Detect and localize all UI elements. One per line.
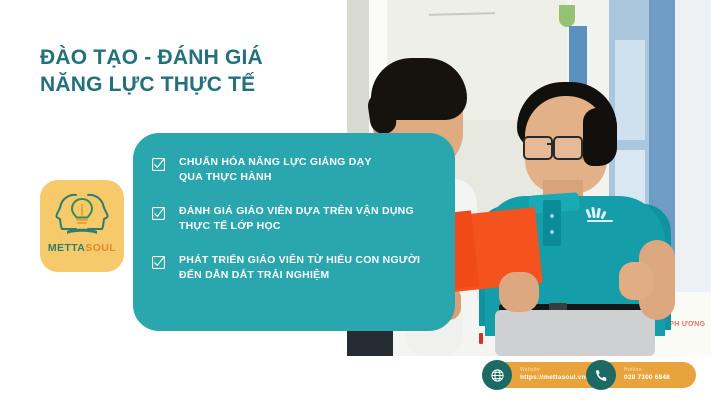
mettasoul-head-lightbulb-icon	[54, 190, 110, 240]
bullet-list: CHUẨN HÓA NĂNG LỰC GIẢNG DẠY QUA THỰC HÀ…	[151, 155, 445, 282]
website-badge-value: https://mettasoul.vn/	[520, 375, 588, 382]
website-badge-label: Website	[520, 368, 588, 373]
phone-icon	[586, 360, 616, 390]
bullet-card: CHUẨN HÓA NĂNG LỰC GIẢNG DẠY QUA THỰC HÀ…	[133, 133, 455, 331]
list-item: ĐÁNH GIÁ GIÁO VIÊN DỰA TRÊN VẬN DỤNG THỰ…	[151, 204, 445, 233]
list-item-label: PHÁT TRIỂN GIÁO VIÊN TỪ HIỂU CON NGƯỜI Đ…	[179, 253, 420, 282]
photo-person-right-placket	[543, 200, 561, 246]
photo-person-right-glasses-right	[553, 136, 583, 160]
brand-name-second: SOUL	[85, 242, 116, 254]
photo-person-right-hand-right	[619, 262, 653, 300]
list-item: CHUẨN HÓA NĂNG LỰC GIẢNG DẠY QUA THỰC HÀ…	[151, 155, 445, 184]
photo-person-right-hand-left	[499, 272, 539, 312]
globe-icon	[482, 360, 512, 390]
website-badge-text: Website https://mettasoul.vn/	[520, 368, 588, 382]
slide: ANH PH ƯƠNG	[0, 0, 711, 400]
photo-polo-button-2	[550, 230, 554, 234]
checkbox-checked-icon	[151, 255, 166, 270]
hotline-badge-value: 028 7300 6848	[624, 375, 670, 382]
photo-person-right-hair-back	[583, 108, 617, 166]
list-item-label: ĐÁNH GIÁ GIÁO VIÊN DỰA TRÊN VẬN DỤNG THỰ…	[179, 204, 414, 233]
photo-polo-button-1	[550, 214, 554, 218]
photo-foliage	[559, 5, 575, 27]
photo-dark-foreground	[347, 330, 393, 356]
list-item-label: CHUẨN HÓA NĂNG LỰC GIẢNG DẠY QUA THỰC HÀ…	[179, 155, 372, 184]
photo-window-1	[615, 40, 645, 140]
hotline-badge-label: Hotline	[624, 368, 670, 373]
checkbox-checked-icon	[151, 157, 166, 172]
brand-logo-wordmark: METTASOUL	[40, 242, 124, 254]
list-item: PHÁT TRIỂN GIÁO VIÊN TỪ HIỂU CON NGƯỜI Đ…	[151, 253, 445, 282]
checkbox-checked-icon	[151, 206, 166, 221]
brand-name-first: METTA	[48, 242, 85, 254]
hotline-badge[interactable]: Hotline 028 7300 6848	[592, 362, 696, 388]
page-title: ĐÀO TẠO - ĐÁNH GIÁ NĂNG LỰC THỰC TẾ	[40, 44, 263, 98]
photo-person-right-glasses-left	[523, 136, 553, 160]
photo-polo-logo-icon	[585, 206, 619, 224]
photo-person-right-glasses-bridge	[547, 143, 555, 145]
hotline-badge-text: Hotline 028 7300 6848	[624, 368, 670, 382]
brand-logo: METTASOUL	[40, 180, 124, 272]
photo-person-right-pants	[495, 310, 655, 356]
